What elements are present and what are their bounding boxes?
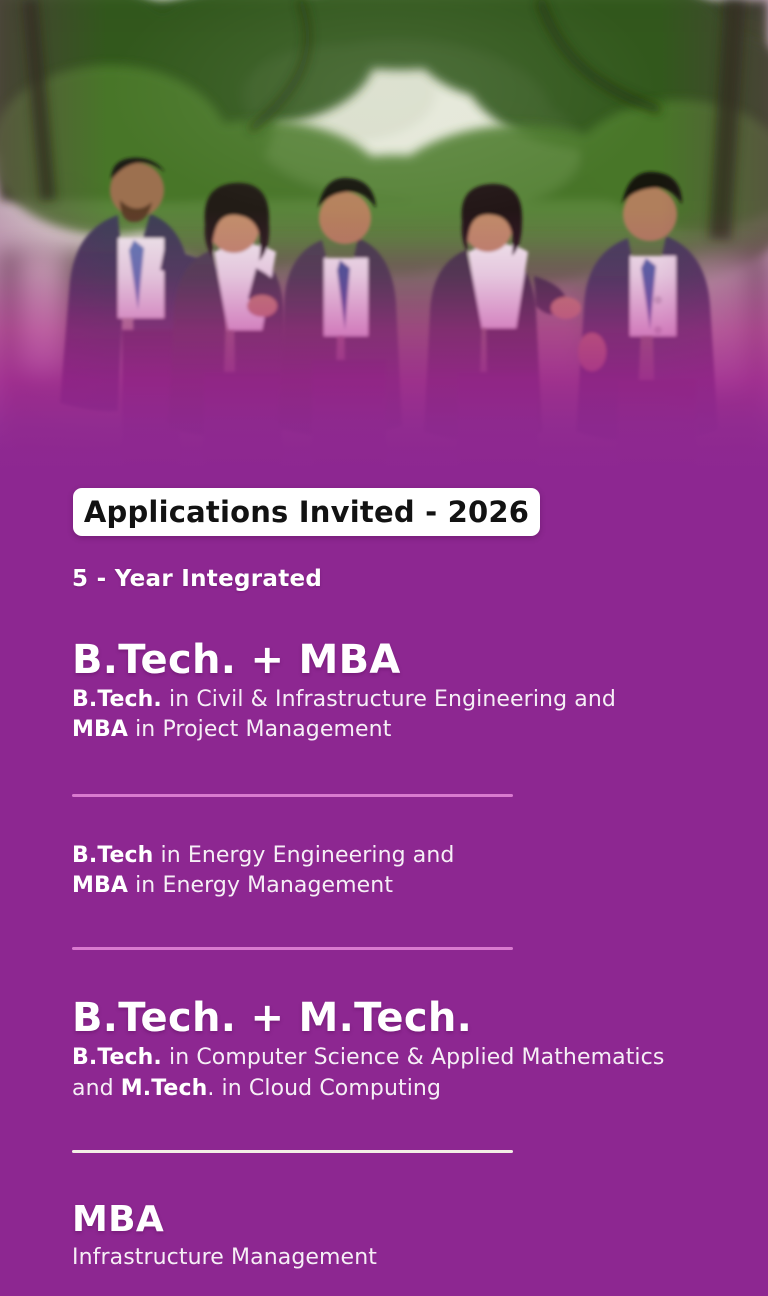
- program-description: B.Tech in Energy Engineering and MBA in …: [72, 841, 712, 902]
- hero-photo-illustration: [0, 0, 768, 500]
- program-block-btech-mba: B.Tech. + MBA B.Tech. in Civil & Infrast…: [72, 639, 712, 746]
- program-description: B.Tech. in Computer Science & Applied Ma…: [72, 1043, 712, 1104]
- program-title: B.Tech. + MBA: [72, 639, 712, 681]
- program-block-energy: B.Tech in Energy Engineering and MBA in …: [72, 841, 712, 902]
- program-desc-text: in Civil & Infrastructure Engineering an…: [162, 687, 616, 712]
- program-desc-bold: MBA: [72, 717, 128, 742]
- eyebrow-label: 5 - Year Integrated: [72, 568, 768, 591]
- poster-root: Applications Invited - 2026 5 - Year Int…: [0, 0, 768, 1296]
- program-desc-text: and: [72, 1076, 121, 1101]
- program-block-mba: MBA Infrastructure Management: [72, 1201, 712, 1273]
- program-desc-bold: MBA: [72, 873, 128, 898]
- program-subtitle: Infrastructure Management: [72, 1243, 712, 1273]
- program-list: 5 - Year Integrated B.Tech. + MBA B.Tech…: [0, 568, 768, 1273]
- program-desc-bold: B.Tech.: [72, 1045, 162, 1070]
- program-title: MBA: [72, 1201, 712, 1239]
- program-desc-bold: M.Tech: [121, 1076, 208, 1101]
- program-desc-text: in Energy Engineering and: [153, 843, 454, 868]
- program-title: B.Tech. + M.Tech.: [72, 997, 712, 1039]
- applications-invited-badge[interactable]: Applications Invited - 2026: [73, 488, 540, 536]
- program-description: B.Tech. in Civil & Infrastructure Engine…: [72, 685, 712, 746]
- program-desc-text: in Computer Science & Applied Mathematic…: [162, 1045, 665, 1070]
- program-desc-text: in Energy Management: [128, 873, 393, 898]
- hero-photo: [0, 0, 768, 500]
- program-desc-bold: B.Tech: [72, 843, 153, 868]
- program-desc-text: in Project Management: [128, 717, 391, 742]
- program-block-btech-mtech: B.Tech. + M.Tech. B.Tech. in Computer Sc…: [72, 997, 712, 1104]
- badge-label: Applications Invited - 2026: [84, 498, 529, 527]
- program-desc-text: . in Cloud Computing: [207, 1076, 441, 1101]
- program-desc-bold: B.Tech.: [72, 687, 162, 712]
